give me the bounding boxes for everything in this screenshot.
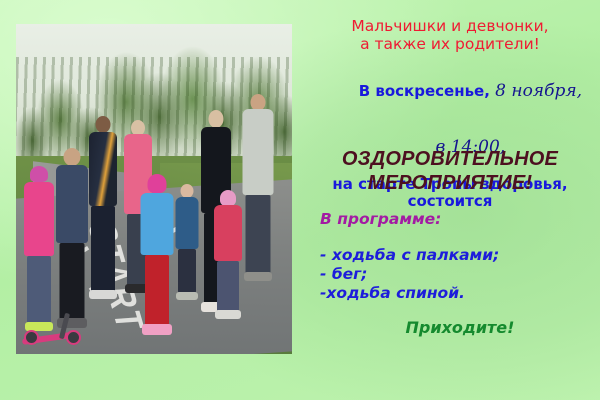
when-verb: состоится bbox=[300, 193, 600, 210]
event-title-line-1: ОЗДОРОВИТЕЛЬНОЕ bbox=[300, 148, 600, 172]
event-title-line-2: МЕРОПРИЯТИЕ! bbox=[300, 172, 600, 196]
program-list: - ходьба с палками; - бег; -ходьба спино… bbox=[320, 246, 590, 303]
call-to-action-text: Приходите! bbox=[330, 318, 590, 337]
event-photo: START bbox=[16, 24, 292, 354]
headline-line-1: Мальчишки и девчонки, bbox=[300, 18, 600, 36]
program-label-block: В программе: bbox=[320, 210, 590, 228]
photo-child-background-blue bbox=[174, 184, 200, 306]
event-title-block: ОЗДОРОВИТЕЛЬНОЕ МЕРОПРИЯТИЕ! bbox=[300, 148, 600, 195]
headline-line-2: а также их родители! bbox=[300, 36, 600, 54]
photo-person-adult-dark bbox=[86, 116, 120, 306]
photo-child-navy-jacket bbox=[54, 148, 90, 336]
scooter-wheel-rear bbox=[66, 330, 81, 345]
photo-frame: START bbox=[16, 24, 292, 354]
list-item: - ходьба с палками; bbox=[320, 246, 590, 265]
photo-pink-scooter bbox=[22, 313, 86, 347]
poster: START bbox=[0, 0, 600, 400]
headline-block: Мальчишки и девчонки, а также их родител… bbox=[300, 18, 600, 53]
list-item: -ходьба спиной. bbox=[320, 284, 590, 303]
list-item: - бег; bbox=[320, 265, 590, 284]
scooter-wheel-front bbox=[24, 330, 39, 345]
poster-text-column: Мальчишки и девчонки, а также их родител… bbox=[300, 0, 600, 400]
photo-child-pink-hat-small bbox=[212, 190, 244, 330]
when-line-1: В воскресенье, 8 ноября, bbox=[300, 64, 600, 120]
photo-person-man-cap bbox=[240, 94, 276, 294]
when-weekday: В воскресенье, bbox=[359, 82, 495, 100]
photo-child-blue-jacket-red-pants bbox=[138, 174, 176, 350]
program-label: В программе: bbox=[320, 210, 590, 228]
call-to-action-block: Приходите! bbox=[330, 318, 590, 337]
photo-child-pink-helmet bbox=[22, 166, 56, 336]
when-date: 8 ноября, bbox=[495, 81, 582, 101]
